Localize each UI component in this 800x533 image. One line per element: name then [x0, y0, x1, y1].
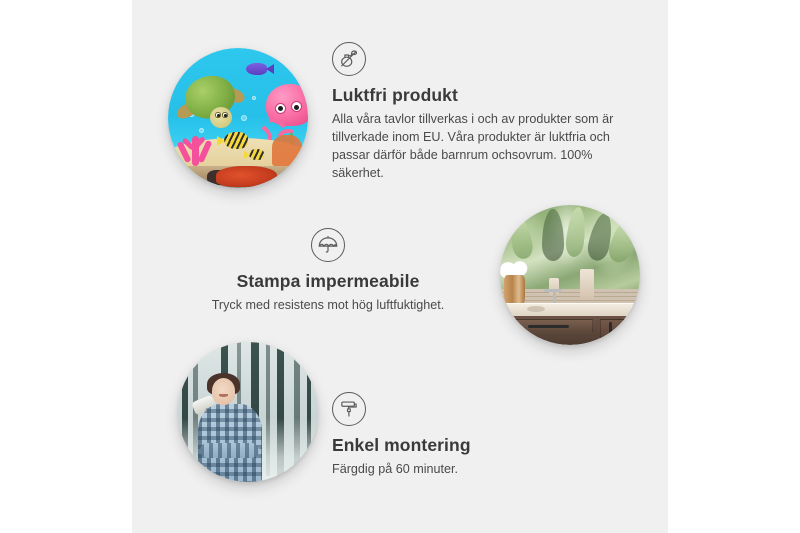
feature-3-text: Enkel montering Färgdig på 60 minuter.	[332, 392, 592, 479]
feature-enkel-montering: Enkel montering Färgdig på 60 minuter.	[0, 0, 800, 533]
feature-3-body: Färgdig på 60 minuter.	[332, 461, 592, 479]
paint-roller-icon	[332, 392, 366, 426]
woman-with-paint-roller-forest-photo	[178, 342, 318, 482]
promo-infographic: Luktfri produkt Alla våra tavlor tillver…	[0, 0, 800, 533]
person-folded-arms	[200, 443, 259, 458]
person-head	[212, 378, 236, 405]
feature-3-title: Enkel montering	[332, 435, 592, 456]
